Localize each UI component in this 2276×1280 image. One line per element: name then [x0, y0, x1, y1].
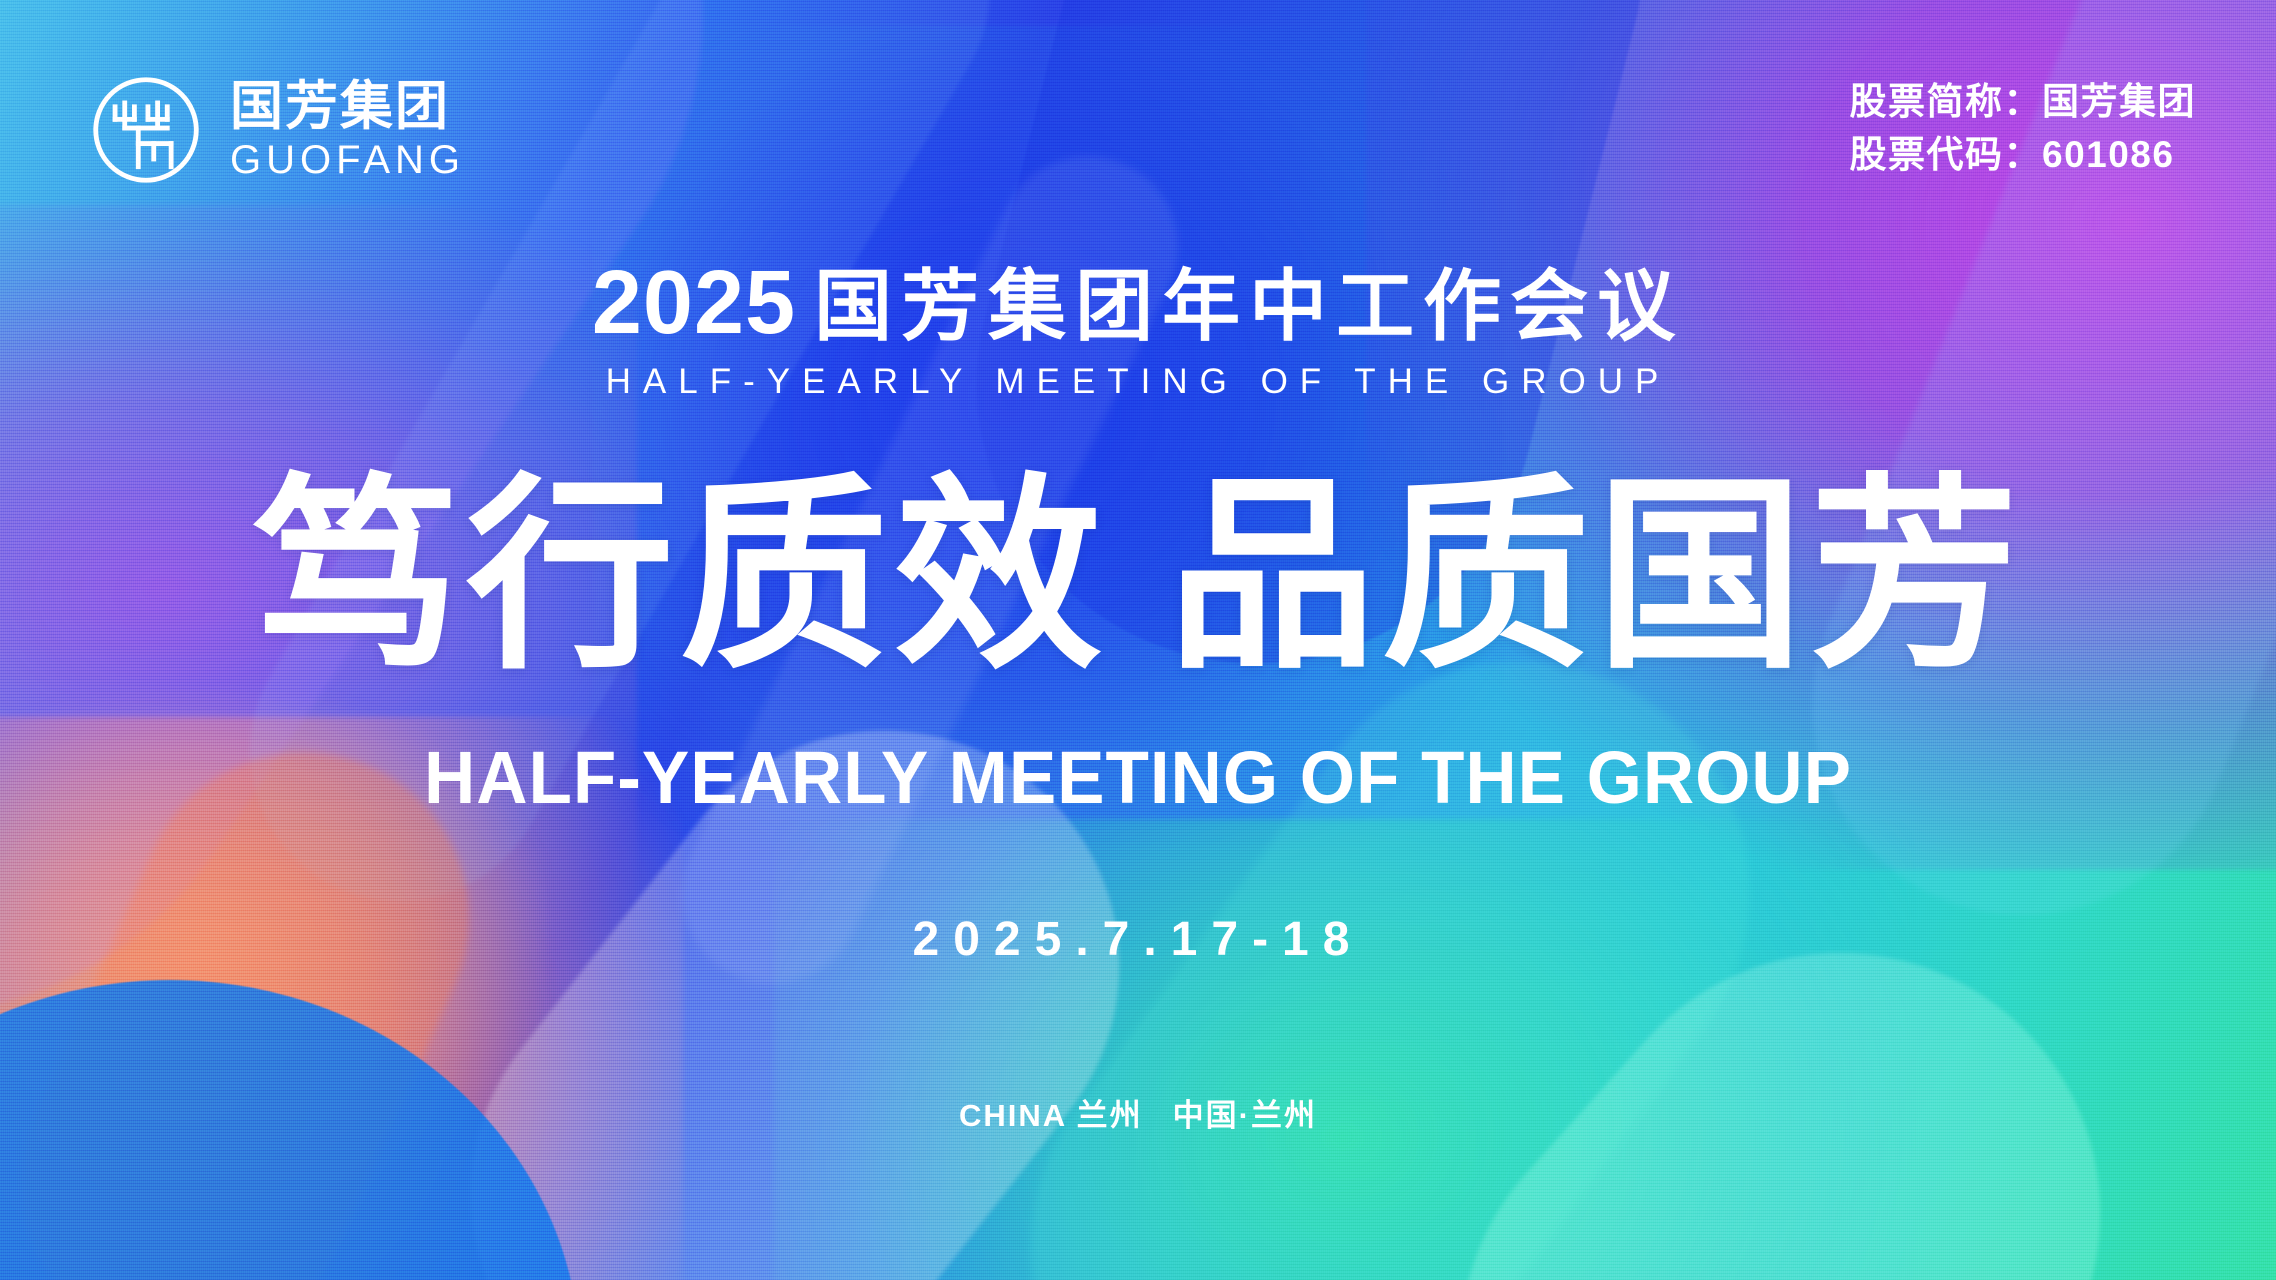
- slogan-strap-en: HALF-YEARLY MEETING OF THE GROUP: [46, 735, 2231, 820]
- event-subtitle-en: HALF-YEARLY MEETING OF THE GROUP: [0, 362, 2276, 402]
- event-title-block: 2025 国芳集团年中工作会议 HALF-YEARLY MEETING OF T…: [0, 258, 2276, 402]
- event-name-cn: 国芳集团年中工作会议: [814, 267, 1684, 345]
- event-year: 2025: [592, 258, 796, 348]
- location-en: CHINA 兰州: [959, 1098, 1143, 1133]
- stock-abbreviation: 股票简称：国芳集团: [1850, 76, 2197, 129]
- event-title: 2025 国芳集团年中工作会议: [592, 258, 1684, 348]
- brand-logo-lockup: 国芳集团 GUOFANG: [88, 72, 465, 188]
- stock-information: 股票简称：国芳集团 股票代码：601086: [1850, 76, 2197, 181]
- event-date: 2025.7.17-18: [0, 912, 2276, 967]
- stock-code: 股票代码：601086: [1850, 129, 2197, 182]
- conference-banner: 国芳集团 GUOFANG 股票简称：国芳集团 股票代码：601086 2025 …: [0, 0, 2276, 1280]
- brand-name-cn: 国芳集团: [230, 80, 465, 133]
- guofang-deer-circle-logo-icon: [88, 72, 204, 188]
- slogan-part-one: 笃行质效: [252, 461, 1108, 693]
- slogan-part-two: 品质国芳: [1168, 461, 2024, 693]
- event-location: CHINA 兰州中国·兰州: [0, 1090, 2276, 1135]
- main-slogan: 笃行质效品质国芳: [0, 468, 2276, 686]
- brand-name-en: GUOFANG: [230, 140, 465, 180]
- location-cn: 中国·兰州: [1173, 1098, 1317, 1133]
